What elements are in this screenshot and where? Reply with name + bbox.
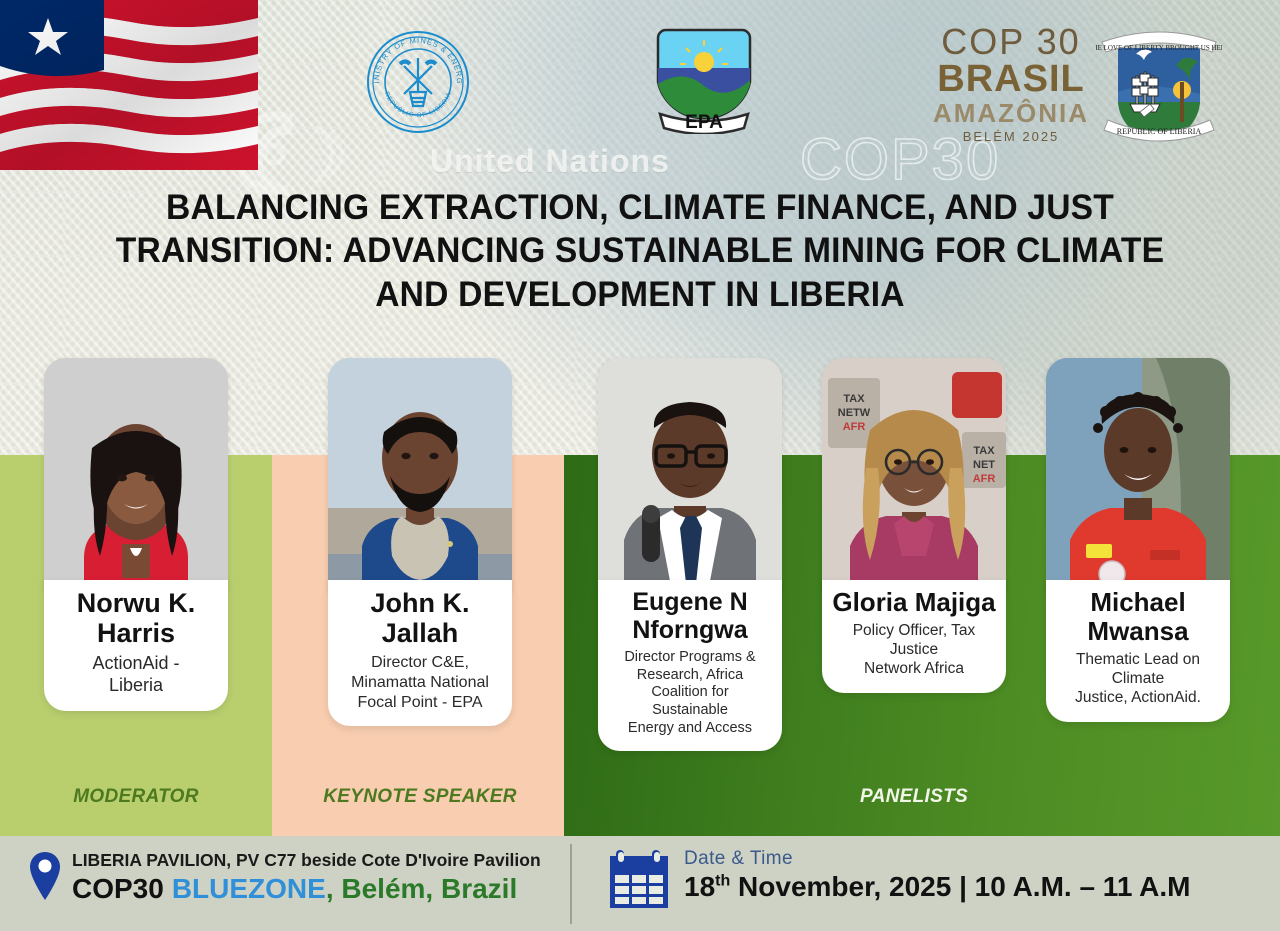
footer: LIBERIA PAVILION, PV C77 beside Cote D'I… [0, 836, 1280, 931]
speaker-info: Eugene N Nforngwa Director Programs & Re… [598, 580, 782, 751]
liberia-flag [0, 0, 258, 170]
speaker-card: TAX NETW AFR TAX NET AFR [822, 358, 1006, 693]
svg-text:TAX: TAX [973, 445, 995, 457]
date-time-value: 18th November, 2025 | 10 A.M. – 11 A.M [684, 871, 1190, 903]
speaker-photo: TAX NETW AFR TAX NET AFR [822, 358, 1006, 602]
speaker-info: John K. Jallah Director C&E, Minamatta N… [328, 580, 512, 726]
speaker-role: Thematic Lead on Climate Justice, Action… [1054, 651, 1222, 708]
location-line2: COP30BLUEZONE, Belém, Brazil [72, 873, 541, 905]
location-city-label: , Belém, Brazil [326, 873, 517, 904]
speaker-name: Eugene N Nforngwa [606, 588, 774, 644]
date-time-label: Date & Time [684, 848, 1190, 870]
footer-divider [570, 844, 572, 924]
speaker-card: Michael Mwansa Thematic Lead on Climate … [1046, 358, 1230, 722]
ministry-of-mines-energy-logo: MINISTRY OF MINES & ENERGY REPUBLIC OF L… [366, 30, 470, 134]
speaker-info: Gloria Majiga Policy Officer, Tax Justic… [822, 580, 1006, 693]
role-tag-keynote: KEYNOTE SPEAKER [300, 786, 540, 808]
speaker-photo [1046, 358, 1230, 602]
svg-text:THE LOVE OF LIBERTY BROUGHT US: THE LOVE OF LIBERTY BROUGHT US HERE [1096, 44, 1222, 52]
role-tag-panelists: PANELISTS [822, 786, 1006, 808]
speaker-name: Gloria Majiga [830, 588, 998, 617]
role-tag-moderator: MODERATOR [44, 786, 228, 808]
svg-text:AFR: AFR [973, 473, 996, 485]
speaker-role: Director Programs & Research, Africa Coa… [606, 649, 774, 737]
cop30-logo-line1: COP 30 [930, 24, 1092, 60]
date-time-block: Date & Time 18th November, 2025 | 10 A.M… [608, 848, 1190, 910]
liberia-coat-of-arms: THE LOVE OF LIBERTY BROUGHT US HERE REPU… [1096, 20, 1222, 146]
speaker-info: Norwu K. Harris ActionAid - Liberia [44, 580, 228, 711]
cop30-logo-line2: BRASIL [930, 60, 1092, 99]
cop30-logo: COP 30 BRASIL AMAZÔNIA BELÉM 2025 [930, 24, 1092, 146]
speaker-photo [598, 358, 782, 602]
svg-text:AFR: AFR [843, 421, 866, 433]
date-ordinal: th [715, 873, 730, 890]
location-line1: LIBERIA PAVILION, PV C77 beside Cote D'I… [72, 850, 541, 871]
location-cop-label: COP30 [72, 873, 164, 904]
speaker-card: John K. Jallah Director C&E, Minamatta N… [328, 358, 512, 726]
date-day: 18 [684, 871, 715, 902]
svg-text:EPA: EPA [685, 112, 723, 133]
speaker-photo [44, 358, 228, 602]
speaker-name: Norwu K. Harris [52, 588, 220, 648]
event-poster: United Nations COP30 [0, 0, 1280, 931]
speaker-info: Michael Mwansa Thematic Lead on Climate … [1046, 580, 1230, 722]
speaker-name: John K. Jallah [336, 588, 504, 648]
speaker-photo [328, 358, 512, 602]
location-block: LIBERIA PAVILION, PV C77 beside Cote D'I… [28, 850, 541, 905]
speaker-role: Director C&E, Minamatta National Focal P… [336, 653, 504, 712]
cop30-logo-line3: AMAZÔNIA [930, 99, 1092, 128]
speaker-role: Policy Officer, Tax Justice Network Afri… [830, 622, 998, 679]
location-zone-label: BLUEZONE [172, 873, 326, 904]
speaker-card: Eugene N Nforngwa Director Programs & Re… [598, 358, 782, 751]
speaker-role: ActionAid - Liberia [52, 653, 220, 697]
map-pin-icon [28, 850, 62, 902]
svg-text:TAX: TAX [843, 393, 865, 405]
speaker-card: Norwu K. Harris ActionAid - Liberia [44, 358, 228, 711]
speaker-name: Michael Mwansa [1054, 588, 1222, 646]
svg-text:NETW: NETW [838, 407, 871, 419]
calendar-icon [608, 848, 670, 910]
epa-logo: EPA [650, 22, 758, 134]
page-title: BALANCING EXTRACTION, CLIMATE FINANCE, A… [112, 186, 1168, 316]
cop30-logo-line4: BELÉM 2025 [930, 129, 1092, 144]
svg-text:REPUBLIC OF LIBERIA: REPUBLIC OF LIBERIA [1117, 127, 1202, 136]
svg-text:NET: NET [973, 459, 995, 471]
date-rest: November, 2025 | 10 A.M. – 11 A.M [730, 871, 1190, 902]
